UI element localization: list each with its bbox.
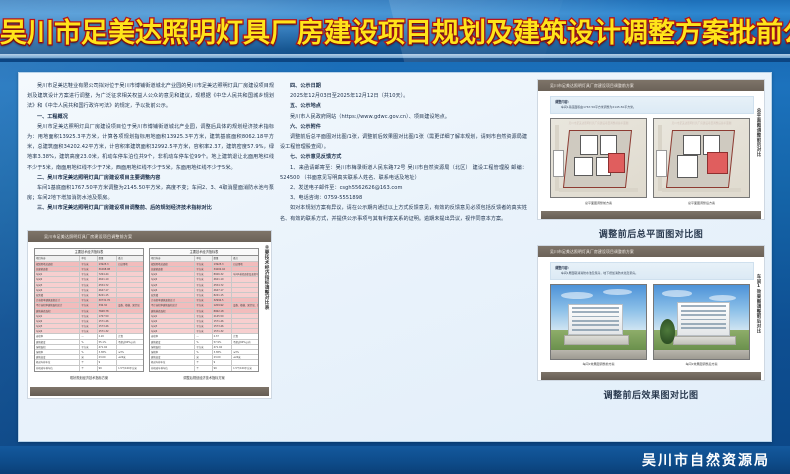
table-header-cell: 单位 [195,256,212,261]
table-cell: 米 [80,355,97,359]
table-cell: 不计容积率建筑面积总计 [35,303,80,307]
table-cell [117,314,143,318]
table-cell: 规划用地总面积 [150,262,195,266]
table-cell: 已征用地 [117,262,143,266]
table-cell: 不超过60%以内 [232,340,258,344]
table-cell: 1767.50 [98,314,117,318]
table-cell: 已征用地 [232,262,258,266]
indicator-table-before-wrap: 主要技术经济指标表 项目内容 单位 数量 备注 规划用地总面积平方米13925.… [34,248,144,380]
table-cell [232,293,258,297]
table-cell [117,360,143,364]
table-header-cell: 项目内容 [150,256,195,261]
table-cell: 平方米 [80,272,97,276]
table-cell: 3.38% [213,350,232,354]
table-cell: 非机动车停车位 [35,366,80,371]
indicator-table-before: 主要技术经济指标表 项目内容 单位 数量 备注 规划用地总面积平方米13925.… [34,248,144,372]
indicator-table-after: 主要技术经济指标表 项目内容 单位 数量 备注 规划用地总面积平方米13925.… [149,248,259,372]
site-plan-side-label: 总平面图调整前后对比 [755,108,761,157]
table-cell: 32992.5 [213,298,232,302]
table-panel-inner: 主要技术经济指标表 项目内容 单位 数量 备注 规划用地总面积平方米13925.… [28,242,271,384]
notice-paragraph: 3、电话咨询：0759-5551898 [280,193,527,203]
table-cell: 9 [98,360,117,364]
table-panel-side-label: 主要技术经济指标调整对比表 [263,245,269,310]
table-row: 非机动车停车位个991.5个/100平方米 [35,366,143,371]
notice-paragraph: 1、来函请邮寄至：吴川市梅录街道人民东路72号 吴川市自然资源局（北区） 建设工… [280,163,527,183]
table-cell: 3.38% [98,350,117,354]
notice-paragraph: 车间1基底面积1767.50平方米调整为2145.50平方米，高度不变；车间2、… [27,183,274,203]
page-title: 吴川市足美达照明灯具厂房建设项目规划及建筑设计调整方案批前公示 [0,11,790,50]
table-cell: 建筑基底面积 [150,309,195,313]
table-cell: 99 [98,366,117,371]
table-cell: 9 [213,360,232,364]
table-cell: 1571.32 [213,329,232,333]
header-rule-dark [0,59,790,62]
table-cell: 平方米 [80,283,97,287]
render-big-caption: 调整前后效果图对比图 [537,384,765,406]
table-cell [117,293,143,297]
table-cell: 机动车停车位 [35,360,80,364]
table-cell: 车间4 [35,288,80,292]
notice-paragraph: 调整前后总平面图对比图/1张，调整前后效果图对比图/1张（需更详细了解本规划，请… [280,132,527,152]
table-cell: 绿地面积 [150,345,195,349]
site-plan-after-image[interactable]: 吴川市足美达照明灯具厂房建设项目调整后总平面图 [653,118,750,198]
table-cell [232,277,258,281]
render-before-image[interactable] [550,284,647,360]
table-cell: 总建筑面积 [150,267,195,271]
table-cell: 1571.46 [98,319,117,323]
table-cell: 4554.72 [98,283,117,287]
table-cell: 车间2 [35,277,80,281]
table-cell: % [80,340,97,344]
table-cell: 8241.15 [98,293,117,297]
table-cell: 建筑高度 [150,355,195,359]
table-cell: 平方米 [80,277,97,281]
table-cell: 平方米 [195,293,212,297]
table-cell: 绿地面积 [35,345,80,349]
table-cell: 不计容积率建筑面积总计 [150,303,195,307]
table-cell: 平方米 [195,277,212,281]
table-cell: ≤24米 [117,355,143,359]
table-cell: 13925.3 [98,262,117,266]
table-cell: 8062.18 [213,309,232,313]
render-panel-bar: 吴川市足美达照明灯具厂房建设项目调整前方案 [538,246,764,257]
table-cell: 4647.17 [98,288,117,292]
render-after-image[interactable] [653,284,750,360]
table-cell: 13925.3 [213,262,232,266]
render-after-caption: 车间1效果图调整后方案 [653,360,750,367]
table-cell: 平方米 [195,283,212,287]
table-cell [117,288,143,292]
notice-paragraph: 吴川市足美达鞋业有限公司拟对位于吴川市博铺街道城北产业园的吴川市足美达照明灯具厂… [27,81,274,112]
notice-section-heading: 七、公示意见反馈方式 [280,152,527,162]
table-cell [232,314,258,318]
table-cell: 平方米 [195,329,212,333]
table-cell: 4621.10 [98,277,117,281]
table-header-cell: 单位 [80,256,97,261]
public-notice-poster: 吴川市足美达照明灯具厂房建设项目规划及建筑设计调整方案批前公示 吴川市足美达鞋业… [0,0,790,474]
site-plan-panel-bar: 吴川市足美达照明灯具厂房建设项目调整前方案 [538,80,764,91]
table-cell: 车间2 [150,319,195,323]
table-cell: 平方米 [80,345,97,349]
table-cell: 7668.78 [98,309,117,313]
notice-section-heading: 一、工程概况 [27,112,274,122]
table-cell: 平方米 [80,288,97,292]
table-cell: ≥3% [117,350,143,354]
table-cell [117,272,143,276]
table-header-cell: 备注 [232,256,258,261]
table-cell: 57.9% [213,340,232,344]
table-cell: 8241.15 [213,293,232,297]
site-plan-panel: 吴川市足美达照明灯具厂房建设项目调整前方案 调整内容： 车间1基底面积由1767… [537,79,765,220]
table-cell: 34202.42 [213,267,232,271]
table-cell: 2145.50 [213,314,232,318]
table-cell [232,288,258,292]
poster-header: 吴川市足美达照明灯具厂房建设项目规划及建筑设计调整方案批前公示 [0,0,790,62]
table-cell: 平方米 [80,319,97,323]
table-cell: 车间1基底面积及面积均增加 [232,272,258,276]
render-after-cell: 车间1效果图调整后方案 [653,284,750,367]
table-cell: 平方米 [80,329,97,333]
notice-section-heading: 二、吴川市足美达照明灯具厂房建设项目主要调整内容 [27,173,274,183]
table-caption: 调整后规划经济技术指标方案 [149,372,259,380]
table-cell: 计容积率建筑面积总计 [35,298,80,302]
table-cell: 平方米 [195,345,212,349]
table-cell: 平方米 [195,303,212,307]
table-cell: 个 [80,360,97,364]
table-cell: 471.04 [213,345,232,349]
note-text: 车间1基底面积由1767.50平方米调整为2145.50平方米。 [555,105,749,110]
table-header-cell: 数量 [98,256,117,261]
table-cell: 平方米 [80,298,97,302]
table-cell: 车间1 [150,272,195,276]
table-cell: 车间3 [150,283,195,287]
table-cell: 平方米 [195,309,212,313]
site-plan-after-cell: 吴川市足美达照明灯具厂房建设项目调整后总平面图 [653,118,750,205]
table-cell: 车间1 [35,314,80,318]
table-cell: 容积率 [150,334,195,338]
table-cell: 1571.32 [98,329,117,333]
table-cell: 计容积率建筑面积总计 [150,298,195,302]
table-cell [232,309,258,313]
table-caption: 现状规划经济技术指标方案 [34,372,144,380]
table-cell [117,345,143,349]
issuing-agency: 吴川市自然资源局 [642,450,770,470]
table-cell: 平方米 [80,324,97,328]
table-cell: 总建筑面积 [35,267,80,271]
site-plan-before-image[interactable]: 吴川市足美达照明灯具厂房建设项目调整前总平面图 [550,118,647,198]
table-title: 主要技术经济指标表 [150,249,258,256]
notice-paragraph: 2025年12月03日至2025年12月12日（共10天）。 [280,91,527,101]
table-cell [232,298,258,302]
notice-section-heading: 五、公示地点 [280,101,527,111]
site-plan-before-cell: 吴川市足美达照明灯具厂房建设项目调整前总平面图 [550,118,647,205]
site-plan-after-caption: 总平面图调整后方案 [653,198,750,205]
notice-paragraph: 2、发送电子邮件至：csgh5562626@163.com [280,183,527,193]
table-cell: 车间3 [35,324,80,328]
header-rule [0,54,790,58]
table-panel-bar: 吴川市足美达照明灯具厂房建设项目调整前方案 [28,231,271,242]
site-plan-note: 调整内容： 车间1基底面积由1767.50平方米调整为2145.50平方米。 [550,96,754,114]
table-cell: 平方米 [195,288,212,292]
table-cell: 99 [213,366,232,371]
table-cell: 1.5个/100平方米 [232,366,258,371]
table-cell [117,309,143,313]
table-header-cell: 项目内容 [35,256,80,261]
table-cell: 平方米 [195,314,212,318]
table-cell: 平方米 [195,262,212,266]
notice-section-heading: 六、公示附件 [280,122,527,132]
table-cell: 1571.46 [213,319,232,323]
note-text: 车间1屋面取消消防水池及泵房，地下增加消防水池及泵房。 [555,271,749,276]
table-cell: 车间4 [35,329,80,333]
render-bottom-bar [541,372,761,380]
table-cell: 个 [80,366,97,371]
table-cell: 设备、楼梯、架空层 [117,303,143,307]
table-cell [117,283,143,287]
right-column: 吴川市足美达照明灯具厂房建设项目调整前方案 调整内容： 车间1基底面积由1767… [533,73,771,441]
notice-paragraph: 如对本规划方案有异议，请在公示期内通过以上方式反馈意见，有效的反馈意见必须包括反… [280,203,527,223]
render-panel: 吴川市足美达照明灯具厂房建设项目调整前方案 调整内容： 车间1屋面取消消防水池及… [537,245,765,382]
table-cell: 平方米 [80,262,97,266]
table-cell: 1209.92 [213,303,232,307]
table-cell: 车间4 [150,288,195,292]
table-cell: 规划用地总面积 [35,262,80,266]
table-cell [232,267,258,271]
table-cell: 车间1 [150,314,195,318]
table-header-cell: 数量 [213,256,232,261]
table-cell: 计算 [117,334,143,338]
table-body-before: 规划用地总面积平方米13925.3已征用地总建筑面积平方米31068.08车间1… [35,262,143,371]
table-cell: 车间4 [150,329,195,333]
table-cell: 建筑密度 [150,340,195,344]
table-cell: 4647.17 [213,288,232,292]
table-cell: 绿地率 [35,350,80,354]
table-cell: 宿舍楼 [150,293,195,297]
content-board: 吴川市足美达鞋业有限公司拟对位于吴川市博铺街道城北产业园的吴川市足美达照明灯具厂… [18,72,772,442]
indicator-table-after-wrap: 主要技术经济指标表 项目内容 单位 数量 备注 规划用地总面积平方米13925.… [149,248,259,380]
site-plan-bottom-bar [541,211,761,219]
table-cell: 平方米 [80,309,97,313]
table-cell: 30731.76 [98,298,117,302]
table-cell: 个 [195,360,212,364]
table-cell: 平方米 [195,319,212,323]
table-cell: 平方米 [195,267,212,271]
render-before-caption: 车间1效果图调整前方案 [550,360,647,367]
table-cell: 个 [195,366,212,371]
table-cell: 米 [195,355,212,359]
table-cell [117,298,143,302]
site-plan-image-row: 吴川市足美达照明灯具厂房建设项目调整前总平面图 [538,118,764,209]
table-cell [232,283,258,287]
table-cell: 23.00 [213,355,232,359]
table-cell: 平方米 [195,324,212,328]
table-cell: ≤24米 [232,355,258,359]
indicator-table-panel: 吴川市足美达照明灯具厂房建设项目调整前方案 主要技术经济指标表 项目内容 单位 … [27,230,272,399]
table-cell: 2.20 [98,334,117,338]
table-cell [232,360,258,364]
notice-column-2: 四、公示日期 2025年12月03日至2025年12月12日（共10天）。 五、… [280,81,527,224]
table-title: 主要技术经济指标表 [35,249,143,256]
table-cell: 55.1% [98,340,117,344]
table-header-cell: 备注 [117,256,143,261]
table-cell: ≥3% [232,350,258,354]
table-cell: 1573.46 [98,324,117,328]
notice-section-heading: 四、公示日期 [280,81,527,91]
render-side-label: 车间1效果图调整前后对比 [755,274,761,333]
table-cell: 平方米 [80,293,97,297]
table-cell: % [195,340,212,344]
left-column: 吴川市足美达鞋业有限公司拟对位于吴川市博铺街道城北产业园的吴川市足美达照明灯具厂… [19,73,533,441]
table-cell: — [80,334,97,338]
table-cell: 1.5个/100平方米 [117,366,143,371]
table-cell [232,324,258,328]
table-cell: 建筑高度 [35,355,80,359]
table-cell: 471.04 [98,345,117,349]
table-cell: 非机动车停车位 [150,366,195,371]
table-body-after: 规划用地总面积平方米13925.3已征用地总建筑面积平方米34202.42车间1… [150,262,258,371]
table-cell: 计算 [232,334,258,338]
table-cell: 容积率 [35,334,80,338]
table-cell: 8926.32 [213,272,232,276]
table-cell: 336.32 [98,303,117,307]
table-cell: % [80,350,97,354]
table-cell [117,329,143,333]
table-cell: 平方米 [195,272,212,276]
render-image-row: 车间1效果图调整前方案 [538,284,764,371]
table-cell: 4554.72 [213,283,232,287]
table-cell: 不超过60%以内 [117,340,143,344]
table-cell: 建筑基底面积 [35,309,80,313]
table-cell: 车间3 [150,324,195,328]
table-cell [117,324,143,328]
table-cell: — [195,334,212,338]
table-cell: 平方米 [80,303,97,307]
table-cell [232,329,258,333]
table-cell: 车间2 [150,277,195,281]
table-cell: 车间3 [35,283,80,287]
table-cell: 设备、楼梯、架空层、消防水池 [232,303,258,307]
table-cell: 平方米 [80,314,97,318]
notice-paragraph: 吴川市人民政府网站（https://www.gdwc.gov.cn）、项目建设地… [280,112,527,122]
table-cell: 31068.08 [98,267,117,271]
table-cell: 23.00 [98,355,117,359]
render-before-cell: 车间1效果图调整前方案 [550,284,647,367]
table-cell [117,319,143,323]
table-cell [232,319,258,323]
table-cell: % [195,350,212,354]
render-note: 调整内容： 车间1屋面取消消防水池及泵房，地下增加消防水池及泵房。 [550,262,754,280]
table-cell: 1573.46 [213,324,232,328]
table-cell: 车间2 [35,319,80,323]
table-cell: 2.37 [213,334,232,338]
notice-column-1: 吴川市足美达鞋业有限公司拟对位于吴川市博铺街道城北产业园的吴川市足美达照明灯具厂… [27,81,274,224]
table-cell: 平方米 [195,298,212,302]
table-cell [117,277,143,281]
notice-text-columns: 吴川市足美达鞋业有限公司拟对位于吴川市博铺街道城北产业园的吴川市足美达照明灯具厂… [27,81,527,224]
site-plan-big-caption: 调整前后总平面图对比图 [537,223,765,245]
notice-paragraph: 吴川市足美达照明灯具厂房建设项目位于吴川市博铺街道城北产业园，调整后具体的规划经… [27,122,274,173]
table-cell [232,345,258,349]
table-cell: 7264.44 [98,272,117,276]
poster-footer: 吴川市自然资源局 [0,446,790,474]
table-cell: 4621.10 [213,277,232,281]
table-cell: 建筑密度 [35,340,80,344]
table-cell: 机动车停车位 [150,360,195,364]
site-plan-before-caption: 总平面图调整前方案 [550,198,647,205]
table-cell: 绿地率 [150,350,195,354]
table-panel-bottom-bar [30,387,269,396]
table-row: 非机动车停车位个991.5个/100平方米 [150,366,258,371]
table-cell [117,267,143,271]
notice-section-heading: 三、吴川市足美达照明灯具厂房建设项目调整前、后的规划经济技术指标对比 [27,203,274,213]
table-cell: 宿舍楼 [35,293,80,297]
table-cell: 车间1 [35,272,80,276]
table-cell: 平方米 [80,267,97,271]
